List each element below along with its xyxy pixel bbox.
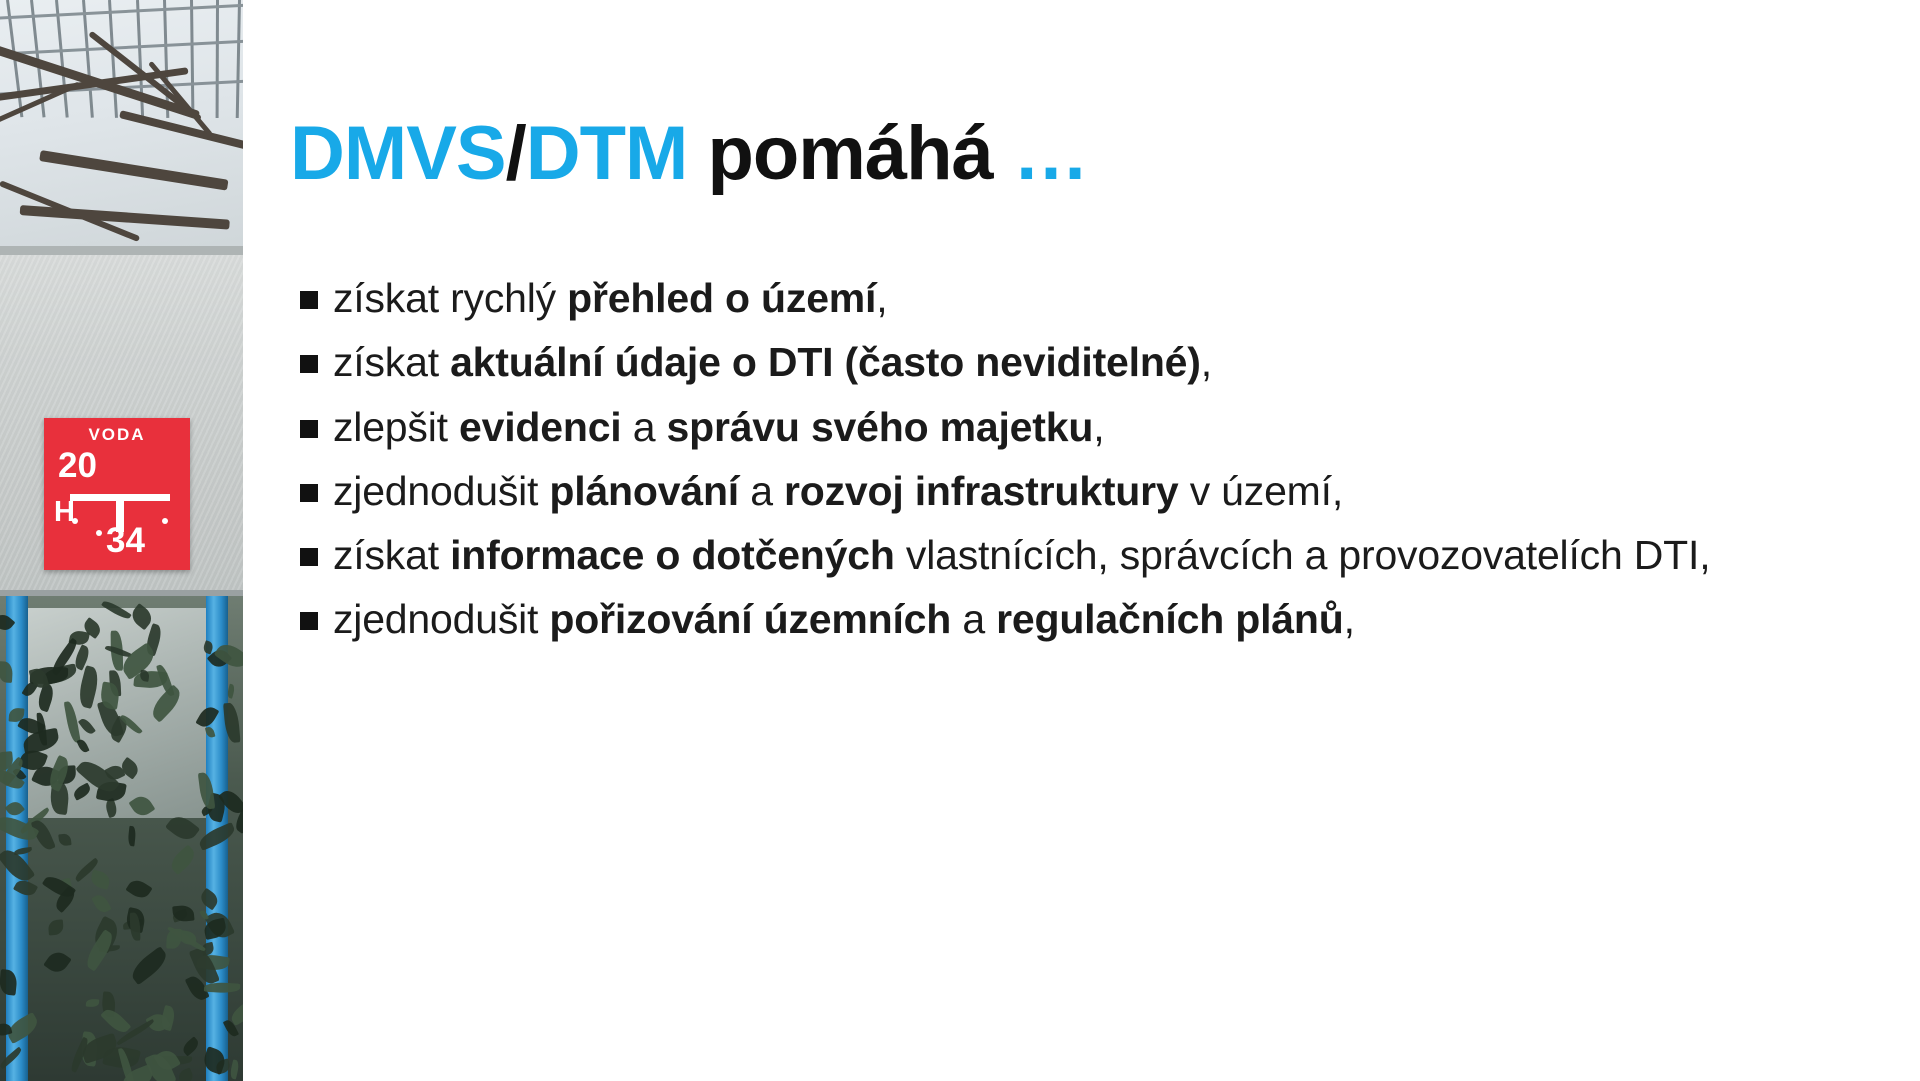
fence-post xyxy=(190,0,194,118)
bullet-square-icon xyxy=(300,355,318,373)
leaf xyxy=(167,929,182,949)
title-part-2: DTM xyxy=(526,111,688,196)
marker-dot-left xyxy=(72,518,78,524)
list-item-run-1: pořizování územních xyxy=(549,596,951,642)
bullet-square-icon xyxy=(300,484,318,502)
leaf xyxy=(181,1037,202,1057)
leaf xyxy=(88,870,111,891)
marker-dot-right xyxy=(162,518,168,524)
bullet-square-icon xyxy=(300,548,318,566)
list-item: zjednodušit pořizování územních a regula… xyxy=(300,593,1900,646)
list-item-run-0: získat xyxy=(333,532,450,578)
list-item: získat rychlý přehled o území, xyxy=(300,272,1900,325)
leaf xyxy=(92,892,112,915)
hydrant-marker-sign: VODA 20 H 34 xyxy=(44,418,190,570)
fence-post xyxy=(82,0,94,118)
list-item-run-2: a xyxy=(739,468,784,514)
title-part-4: … xyxy=(1013,111,1088,196)
list-item-run-4: , xyxy=(1093,404,1104,450)
title-part-3: pomáhá xyxy=(687,111,1013,196)
leaf xyxy=(229,1060,240,1080)
title-part-1: / xyxy=(506,111,526,196)
list-item-run-0: získat xyxy=(333,339,450,385)
marker-dot-center xyxy=(96,530,102,536)
bullet-list: získat rychlý přehled o území,získat akt… xyxy=(300,272,1900,658)
list-item-run-0: zlepšit xyxy=(333,404,459,450)
list-item: zjednodušit plánování a rozvoj infrastru… xyxy=(300,465,1900,518)
list-item-run-2: vlastnících, správcích a provozovatelích… xyxy=(895,532,1711,578)
leaf xyxy=(177,1068,195,1081)
list-item-run-0: zjednodušit xyxy=(333,468,549,514)
list-item: získat informace o dotčených vlastnících… xyxy=(300,529,1900,582)
list-item-run-3: rozvoj infrastruktury xyxy=(784,468,1179,514)
branch xyxy=(20,205,230,230)
list-item-run-1: informace o dotčených xyxy=(450,532,895,578)
fence-post xyxy=(236,0,241,118)
bullet-square-icon xyxy=(300,291,318,309)
list-item-text: zjednodušit plánování a rozvoj infrastru… xyxy=(333,465,1343,518)
list-item-run-2: , xyxy=(876,275,887,321)
leaf xyxy=(167,845,198,875)
list-item-run-2: a xyxy=(951,596,996,642)
list-item-run-3: regulačních plánů xyxy=(996,596,1343,642)
leaf xyxy=(160,1005,178,1031)
list-item: získat aktuální údaje o DTI (často nevid… xyxy=(300,336,1900,389)
list-item-run-1: evidenci xyxy=(459,404,621,450)
list-item-run-4: v území, xyxy=(1179,468,1344,514)
list-item-run-3: správu svého majetku xyxy=(667,404,1094,450)
list-item-run-4: , xyxy=(1344,596,1355,642)
photo-foliage-region xyxy=(0,596,243,1081)
fence-post xyxy=(108,0,118,118)
leaf xyxy=(128,947,171,986)
list-item-text: získat aktuální údaje o DTI (často nevid… xyxy=(333,336,1212,389)
list-item-text: zjednodušit pořizování územních a regula… xyxy=(333,593,1355,646)
fence-post xyxy=(216,0,219,118)
marker-number-bottom: 34 xyxy=(106,521,145,561)
leaf xyxy=(47,919,64,935)
list-item-text: získat informace o dotčených vlastnících… xyxy=(333,529,1710,582)
photo-sky-region xyxy=(0,0,243,252)
wall-edge-top xyxy=(0,246,243,255)
fence-post xyxy=(55,0,69,118)
leaf xyxy=(58,833,71,847)
bullet-square-icon xyxy=(300,420,318,438)
list-item-run-0: získat rychlý xyxy=(333,275,567,321)
list-item-text: zlepšit evidenci a správu svého majetku, xyxy=(333,401,1104,454)
title-part-0: DMVS xyxy=(290,111,506,196)
list-item-run-1: aktuální údaje o DTI (často neviditelné) xyxy=(450,339,1201,385)
list-item-run-2: a xyxy=(622,404,667,450)
list-item-run-2: , xyxy=(1201,339,1212,385)
marker-letter-h: H xyxy=(54,496,75,529)
list-item-run-0: zjednodušit xyxy=(333,596,549,642)
leaf xyxy=(100,1005,131,1036)
marker-number-top: 20 xyxy=(58,446,97,486)
list-item-text: získat rychlý přehled o území, xyxy=(333,272,887,325)
fence-rail xyxy=(0,3,243,20)
page-title: DMVS/DTM pomáhá … xyxy=(290,113,1088,195)
list-item-run-1: přehled o území xyxy=(567,275,876,321)
leaf xyxy=(86,999,100,1008)
marker-label-voda: VODA xyxy=(44,425,190,445)
list-item-run-1: plánování xyxy=(549,468,739,514)
photo-strip: VODA 20 H 34 xyxy=(0,0,243,1081)
slide: VODA 20 H 34 DMVS/DTM pomáhá … získat ry… xyxy=(0,0,1920,1081)
branch xyxy=(39,150,228,191)
bullet-square-icon xyxy=(300,612,318,630)
leaf xyxy=(126,877,153,902)
list-item: zlepšit evidenci a správu svého majetku, xyxy=(300,401,1900,454)
leaf xyxy=(43,948,72,977)
leaf xyxy=(127,827,136,847)
